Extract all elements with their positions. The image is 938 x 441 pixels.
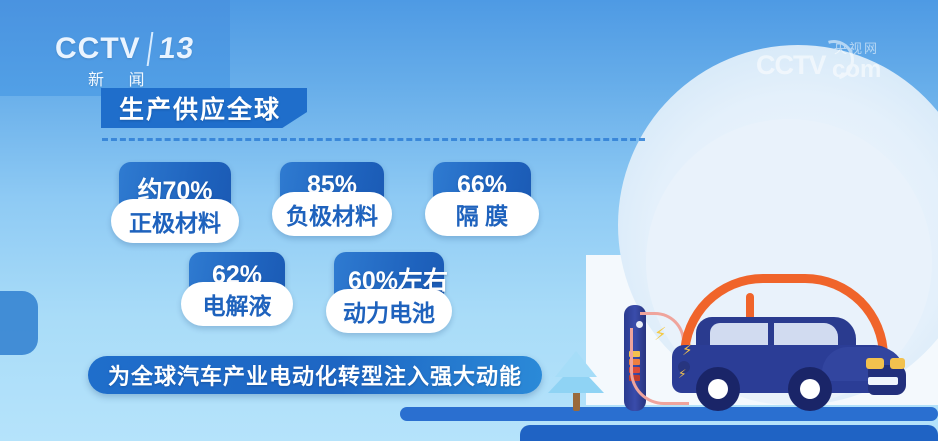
car-bolt-icon: ⚡ <box>682 341 693 359</box>
stat-label: 隔 膜 <box>456 203 508 229</box>
tree-foliage-upper <box>555 351 597 377</box>
stat-card: 60%左右 动力电池 <box>334 252 444 321</box>
watermark-domain: com <box>832 56 881 84</box>
channel-subtitle: 新 闻 <box>88 66 154 90</box>
page-title: 生产供应全球 <box>119 90 281 126</box>
wheel-hub <box>800 379 820 399</box>
left-corner-blob <box>0 291 38 355</box>
car-wheel-front <box>788 367 832 411</box>
stat-label: 负极材料 <box>286 203 378 229</box>
stat-label-pill: 正极材料 <box>111 199 239 243</box>
stat-label: 动力电池 <box>343 300 435 326</box>
stat-label: 正极材料 <box>129 210 221 236</box>
stat-label: 电解液 <box>203 293 272 319</box>
watermark-chinese: 央视网 <box>834 38 879 57</box>
footer-caption-banner: 为全球汽车产业电动化转型注入强大动能 <box>88 356 542 394</box>
channel-logo-block: CCTV 13 新 闻 <box>0 0 230 96</box>
stat-label-pill: 动力电池 <box>326 289 452 333</box>
electric-car-icon: ⚡ ⚡ <box>672 291 922 411</box>
ground-lower <box>520 425 938 441</box>
footer-caption: 为全球汽车产业电动化转型注入强大动能 <box>108 359 522 391</box>
stat-card: 66% 隔 膜 <box>433 162 531 224</box>
tree-icon <box>548 349 604 411</box>
watermark-brand: CCTV <box>756 50 826 81</box>
stat-label-pill: 隔 膜 <box>425 192 539 236</box>
page-title-banner: 生产供应全球 <box>101 88 307 128</box>
cctv-logo-text: CCTV <box>55 32 141 66</box>
car-license-plate <box>868 377 898 385</box>
stat-card: 62% 电解液 <box>189 252 285 314</box>
spark-icon: ⚡ <box>654 324 667 345</box>
title-divider <box>102 138 645 141</box>
stat-card: 85% 负极材料 <box>280 162 384 224</box>
wheel-hub <box>708 379 728 399</box>
stat-label-pill: 负极材料 <box>272 192 392 236</box>
cctv-channel-number: 13 <box>146 32 196 66</box>
infographic-stage: CCTV 13 新 闻 CCTV 央视网 com 生产供应全球 约70% 正极材… <box>0 0 938 441</box>
car-headlight-left <box>866 358 884 369</box>
car-headlight-right <box>890 358 905 369</box>
car-wheel-rear <box>696 367 740 411</box>
cctv-com-watermark: CCTV 央视网 com <box>756 38 896 84</box>
stat-card: 约70% 正极材料 <box>119 162 231 231</box>
stat-label-pill: 电解液 <box>181 282 293 326</box>
car-bolt-icon-small: ⚡ <box>678 367 686 381</box>
cctv-logo: CCTV 13 <box>55 32 194 66</box>
